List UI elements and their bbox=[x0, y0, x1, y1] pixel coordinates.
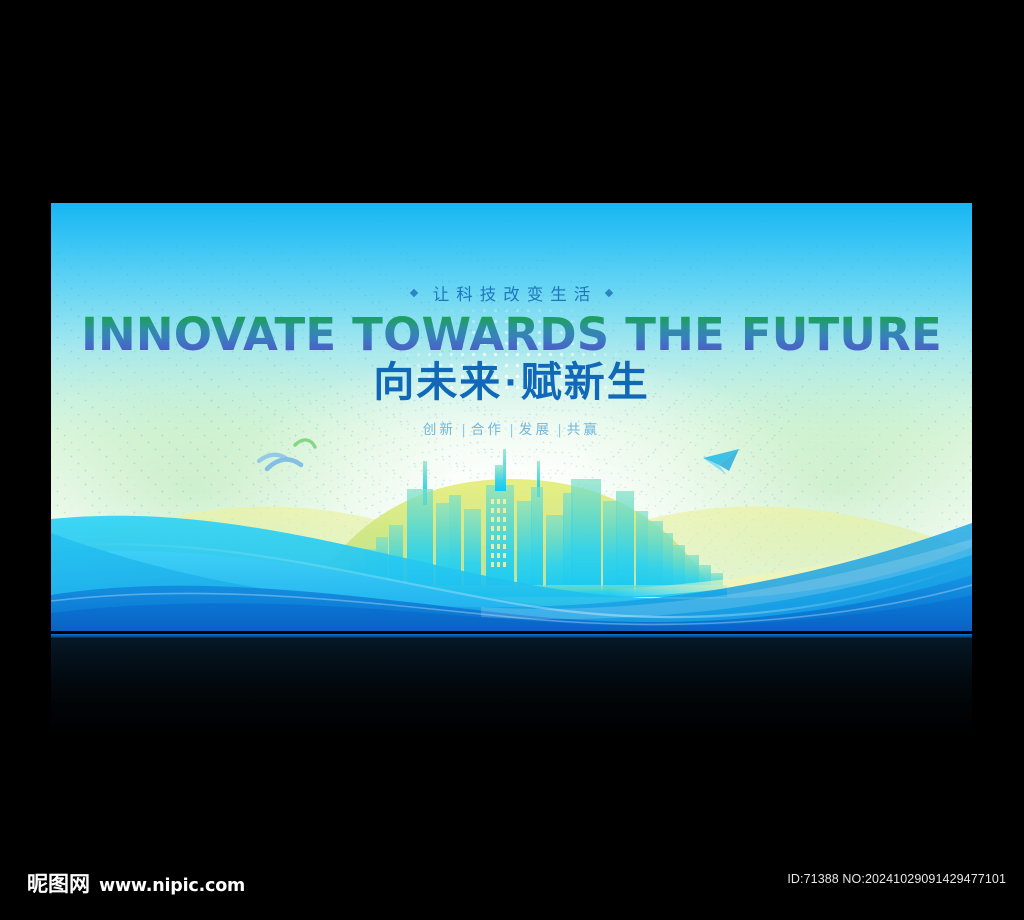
diamond-right-icon bbox=[605, 289, 613, 297]
banner-artwork: 让科技改变生活 INNOVATE TOWARDS THE FUTURE 向未来·… bbox=[51, 203, 972, 631]
paper-plane-icon bbox=[703, 449, 739, 475]
tagline-row: 让科技改变生活 bbox=[51, 281, 972, 305]
tagline-text: 让科技改变生活 bbox=[426, 281, 598, 305]
headline-english: INNOVATE TOWARDS THE FUTURE bbox=[51, 311, 972, 358]
keyword-4: 共赢 bbox=[567, 422, 600, 438]
page-root: 让科技改变生活 INNOVATE TOWARDS THE FUTURE 向未来·… bbox=[0, 0, 1024, 920]
banner-reflection bbox=[51, 634, 972, 738]
reflection-scene bbox=[51, 634, 972, 738]
reflection-edge-highlight bbox=[51, 634, 972, 639]
keyword-2: 合作 bbox=[471, 422, 504, 438]
keyword-sep-3: | bbox=[552, 422, 567, 438]
diamond-left-icon bbox=[410, 289, 418, 297]
headline-chinese-left: 向未来 bbox=[373, 358, 502, 406]
keyword-row: 创新|合作|发展|共赢 bbox=[51, 418, 972, 438]
reflection-mirror bbox=[51, 634, 972, 738]
bird-icon-blue-2 bbox=[267, 459, 301, 469]
keyword-sep-2: | bbox=[504, 422, 519, 438]
footer-bar: 昵图网 www.nipic.com ID:71388 NO:2024102909… bbox=[0, 868, 1024, 912]
keyword-3: 发展 bbox=[519, 422, 552, 438]
bird-icon-green bbox=[295, 440, 315, 447]
brand-url-text: www.nipic.com bbox=[99, 876, 245, 896]
keyword-1: 创新 bbox=[423, 422, 456, 438]
headline-chinese-right: 赋新生 bbox=[521, 358, 650, 406]
headline-separator: · bbox=[502, 363, 521, 402]
headline-chinese: 向未来·赋新生 bbox=[51, 359, 972, 406]
brand-logo-text: 昵图网 bbox=[27, 868, 90, 898]
site-branding[interactable]: 昵图网 www.nipic.com bbox=[27, 868, 245, 898]
banner-text-block: 让科技改变生活 INNOVATE TOWARDS THE FUTURE 向未来·… bbox=[51, 281, 972, 438]
asset-id-label: ID:71388 NO:20241029091429477101 bbox=[787, 872, 1006, 886]
keyword-sep-1: | bbox=[456, 422, 471, 438]
